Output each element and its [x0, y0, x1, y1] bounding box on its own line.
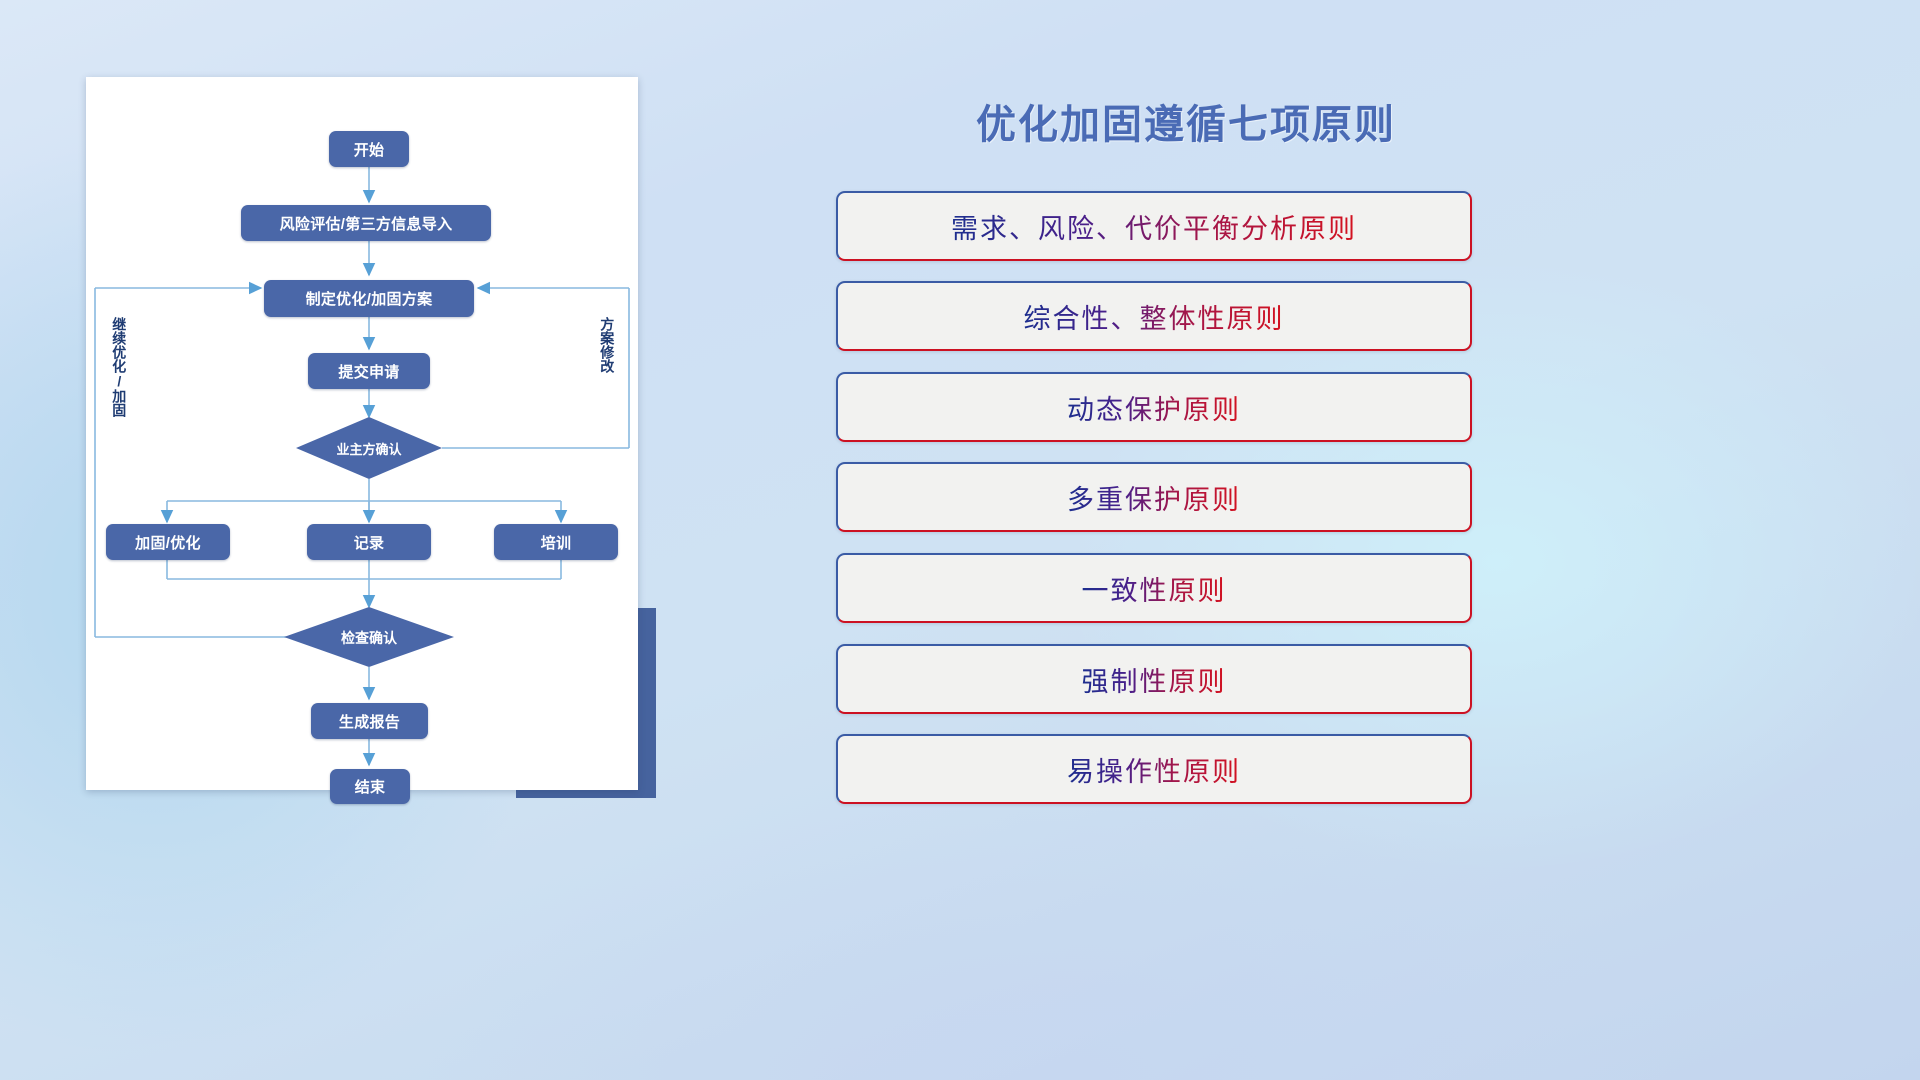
- flow-node-training-label: 培训: [541, 532, 572, 553]
- principle-item-5-label: 一致性原则: [1082, 569, 1227, 608]
- principle-item-1-label: 需求、风险、代价平衡分析原则: [951, 207, 1357, 246]
- flow-node-start[interactable]: 开始: [329, 131, 409, 167]
- flow-node-risk-assessment[interactable]: 风险评估/第三方信息导入: [241, 205, 491, 241]
- principle-item-2[interactable]: 综合性、整体性原则: [836, 281, 1472, 351]
- flow-node-start-label: 开始: [354, 139, 385, 160]
- flow-node-record-label: 记录: [354, 532, 385, 553]
- principle-item-5[interactable]: 一致性原则: [836, 553, 1472, 623]
- flow-node-generate-report-label: 生成报告: [339, 711, 400, 732]
- flow-node-owner-confirm-label: 业主方确认: [319, 439, 419, 458]
- principle-item-6-label: 强制性原则: [1082, 660, 1227, 699]
- flow-node-submit-application-label: 提交申请: [338, 361, 399, 382]
- flow-node-training[interactable]: 培训: [494, 524, 618, 560]
- principle-item-7-label: 易操作性原则: [1067, 750, 1241, 789]
- flow-node-end[interactable]: 结束: [330, 769, 410, 804]
- flow-node-make-plan-label: 制定优化/加固方案: [306, 288, 433, 309]
- flow-node-record[interactable]: 记录: [307, 524, 431, 560]
- flow-node-submit-application[interactable]: 提交申请: [308, 353, 430, 389]
- flow-node-risk-assessment-label: 风险评估/第三方信息导入: [280, 213, 453, 234]
- flowchart-connectors: [86, 77, 638, 790]
- edge-label-continue-optimize: 继续优化/加固: [112, 317, 126, 417]
- principle-item-4[interactable]: 多重保护原则: [836, 462, 1472, 532]
- flow-node-make-plan[interactable]: 制定优化/加固方案: [264, 280, 474, 317]
- principle-item-1[interactable]: 需求、风险、代价平衡分析原则: [836, 191, 1472, 261]
- page-title: 优化加固遵循七项原则: [836, 92, 1536, 150]
- principle-item-4-label: 多重保护原则: [1067, 478, 1241, 517]
- principle-item-7[interactable]: 易操作性原则: [836, 734, 1472, 804]
- edge-label-plan-revision: 方案修改: [600, 317, 614, 373]
- principle-item-2-label: 综合性、整体性原则: [1024, 297, 1285, 336]
- flow-node-generate-report[interactable]: 生成报告: [311, 703, 428, 739]
- principle-item-6[interactable]: 强制性原则: [836, 644, 1472, 714]
- flow-node-check-confirm-label: 检查确认: [319, 628, 419, 648]
- flowchart-card: 开始 风险评估/第三方信息导入 制定优化/加固方案 提交申请 业主方确认 加固/…: [86, 77, 638, 790]
- principle-item-3[interactable]: 动态保护原则: [836, 372, 1472, 442]
- principle-item-3-label: 动态保护原则: [1067, 388, 1241, 427]
- flow-node-reinforce-optimize-label: 加固/优化: [135, 532, 201, 553]
- flow-node-reinforce-optimize[interactable]: 加固/优化: [106, 524, 230, 560]
- flow-node-end-label: 结束: [355, 776, 386, 797]
